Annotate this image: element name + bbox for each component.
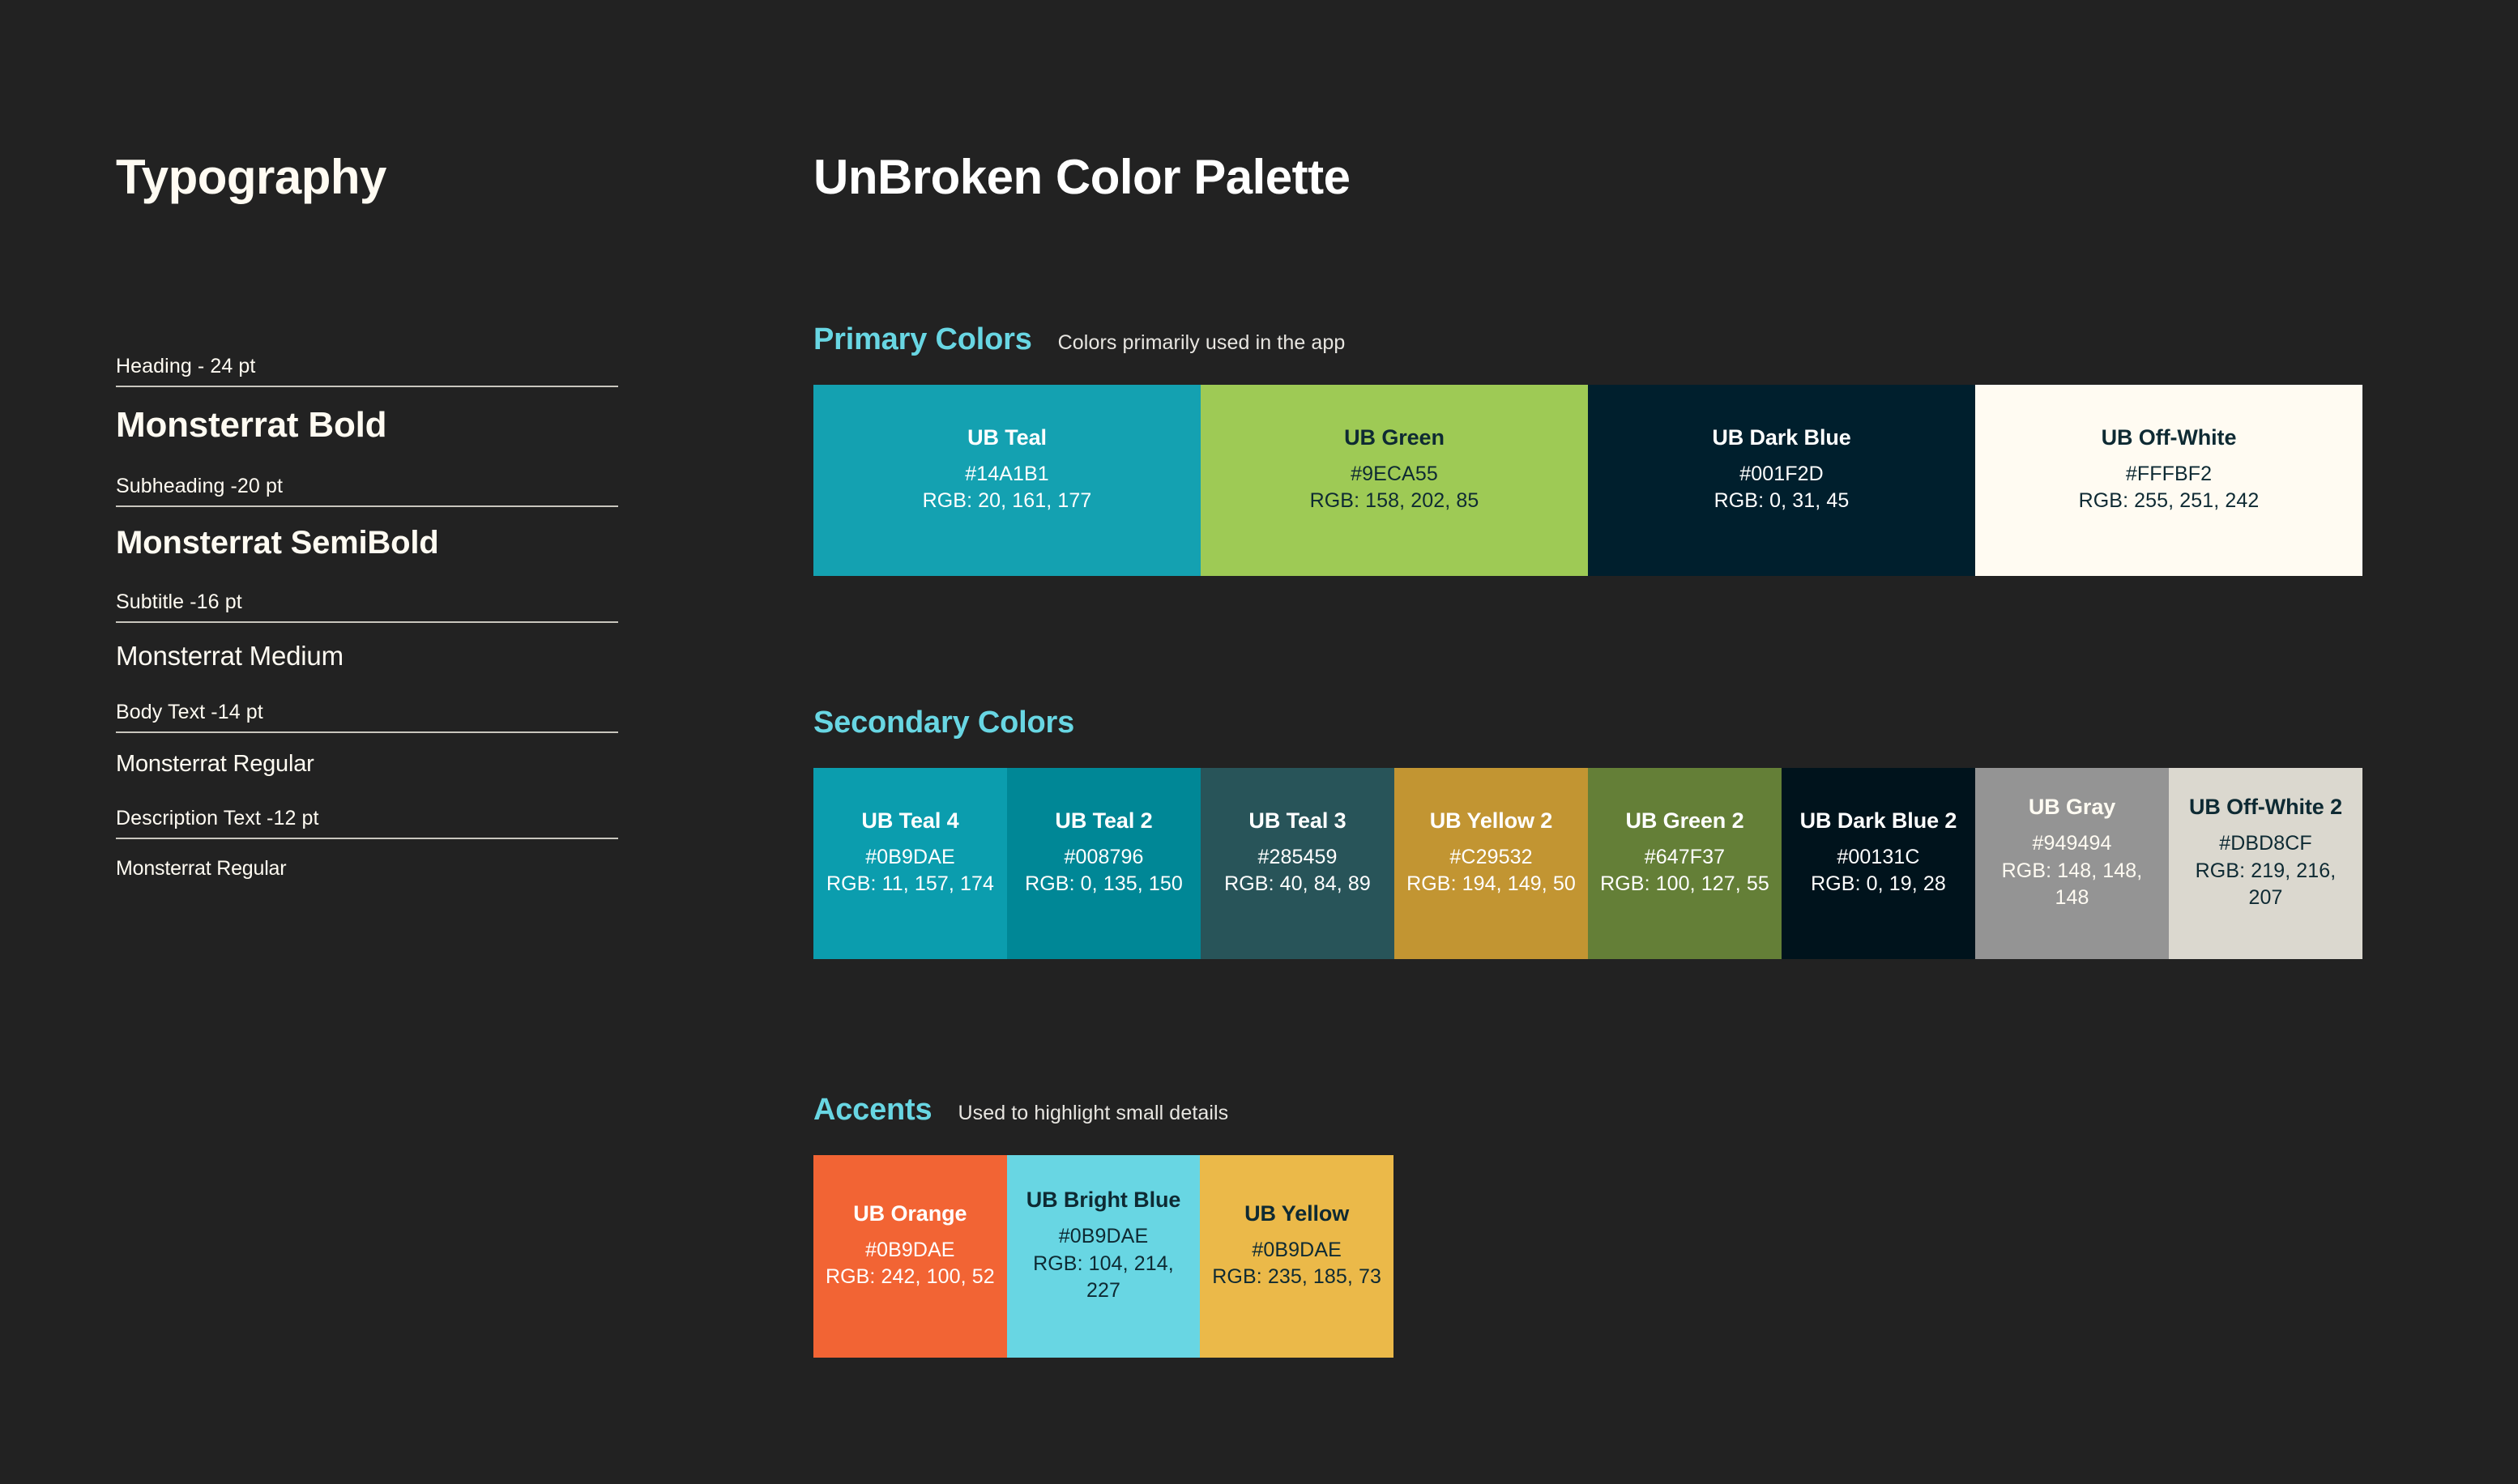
typography-row-label: Description Text -12 pt: [116, 807, 618, 839]
color-swatch[interactable]: UB Gray#949494RGB: 148, 148, 148: [1975, 768, 2169, 959]
color-swatch[interactable]: UB Orange#0B9DAERGB: 242, 100, 52: [813, 1155, 1007, 1358]
swatch-hex-value: #0B9DAE: [865, 1237, 955, 1264]
color-swatch[interactable]: UB Yellow 2#C29532RGB: 194, 149, 50: [1394, 768, 1588, 959]
typography-row-sample: Monsterrat Medium: [116, 623, 618, 683]
swatch-rgb-value: RGB: 0, 31, 45: [1714, 488, 1850, 515]
swatch-rgb-value: RGB: 158, 202, 85: [1310, 488, 1479, 515]
section-title: Primary Colors: [813, 322, 1032, 357]
typography-row-label: Body Text -14 pt: [116, 701, 618, 733]
swatch-name: UB Bright Blue: [1026, 1187, 1181, 1213]
typography-heading: Typography: [116, 151, 618, 204]
swatch-hex-value: #0B9DAE: [1252, 1237, 1342, 1264]
style-guide-page: Typography Heading - 24 ptMonsterrat Bol…: [0, 0, 2518, 1484]
typography-row-sample: Monsterrat SemiBold: [116, 507, 618, 573]
color-swatch[interactable]: UB Teal#14A1B1RGB: 20, 161, 177: [813, 385, 1201, 576]
swatch-hex-value: #14A1B1: [965, 461, 1049, 488]
swatch-name: UB Gray: [2029, 794, 2115, 821]
section-subtitle: Colors primarily used in the app: [1058, 331, 1346, 355]
palette-sections: Primary ColorsColors primarily used in t…: [813, 322, 2369, 1358]
swatch-hex-value: #647F37: [1645, 844, 1725, 872]
swatch-name: UB Dark Blue: [1712, 424, 1850, 451]
swatch-hex-value: #9ECA55: [1351, 461, 1438, 488]
swatch-row-accents: UB Orange#0B9DAERGB: 242, 100, 52UB Brig…: [813, 1155, 2369, 1358]
swatch-rgb-value: RGB: 100, 127, 55: [1600, 871, 1769, 898]
swatch-rgb-value: RGB: 235, 185, 73: [1212, 1264, 1381, 1291]
swatch-hex-value: #001F2D: [1739, 461, 1824, 488]
swatch-name: UB Green 2: [1625, 808, 1743, 834]
swatch-hex-value: #949494: [2032, 830, 2111, 858]
color-swatch[interactable]: UB Green#9ECA55RGB: 158, 202, 85: [1201, 385, 1588, 576]
color-swatch[interactable]: UB Bright Blue#0B9DAERGB: 104, 214, 227: [1007, 1155, 1201, 1358]
color-swatch[interactable]: UB Yellow#0B9DAERGB: 235, 185, 73: [1200, 1155, 1393, 1358]
typography-row-sample: Monsterrat Bold: [116, 387, 618, 457]
section-subtitle: Used to highlight small details: [958, 1102, 1228, 1125]
color-swatch[interactable]: UB Dark Blue#001F2DRGB: 0, 31, 45: [1588, 385, 1975, 576]
swatch-rgb-value: RGB: 242, 100, 52: [826, 1264, 995, 1291]
swatch-hex-value: #C29532: [1449, 844, 1532, 872]
color-swatch[interactable]: UB Off-White#FFFBF2RGB: 255, 251, 242: [1975, 385, 2362, 576]
color-swatch[interactable]: UB Off-White 2#DBD8CFRGB: 219, 216, 207: [2169, 768, 2362, 959]
palette-section-primary: Primary ColorsColors primarily used in t…: [813, 322, 2369, 576]
swatch-name: UB Teal: [967, 424, 1047, 451]
color-swatch[interactable]: UB Dark Blue 2#00131CRGB: 0, 19, 28: [1782, 768, 1975, 959]
swatch-name: UB Dark Blue 2: [1800, 808, 1957, 834]
swatch-name: UB Teal 3: [1248, 808, 1346, 834]
swatch-name: UB Yellow 2: [1430, 808, 1552, 834]
typography-specimen-list: Heading - 24 ptMonsterrat BoldSubheading…: [116, 355, 618, 892]
swatch-rgb-value: RGB: 0, 19, 28: [1811, 871, 1946, 898]
swatch-hex-value: #FFFBF2: [2126, 461, 2212, 488]
typography-row: Subtitle -16 ptMonsterrat Medium: [116, 591, 618, 683]
typography-row-label: Subtitle -16 pt: [116, 591, 618, 623]
swatch-hex-value: #0B9DAE: [865, 844, 955, 872]
swatch-name: UB Off-White 2: [2189, 794, 2342, 821]
palette-section-secondary: Secondary ColorsUB Teal 4#0B9DAERGB: 11,…: [813, 706, 2369, 959]
swatch-hex-value: #DBD8CF: [2219, 830, 2312, 858]
swatch-name: UB Yellow: [1244, 1200, 1349, 1227]
swatch-name: UB Green: [1344, 424, 1445, 451]
color-swatch[interactable]: UB Teal 4#0B9DAERGB: 11, 157, 174: [813, 768, 1007, 959]
palette-section-accents: AccentsUsed to highlight small detailsUB…: [813, 1093, 2369, 1358]
palette-title: UnBroken Color Palette: [813, 151, 2369, 204]
swatch-row-secondary: UB Teal 4#0B9DAERGB: 11, 157, 174UB Teal…: [813, 768, 2369, 959]
swatch-rgb-value: RGB: 194, 149, 50: [1406, 871, 1576, 898]
color-swatch[interactable]: UB Teal 3#285459RGB: 40, 84, 89: [1201, 768, 1394, 959]
typography-row: Description Text -12 ptMonsterrat Regula…: [116, 807, 618, 892]
swatch-name: UB Off-White: [2102, 424, 2237, 451]
color-swatch[interactable]: UB Teal 2#008796RGB: 0, 135, 150: [1007, 768, 1201, 959]
section-title: Secondary Colors: [813, 706, 1074, 740]
section-title: Accents: [813, 1093, 932, 1128]
section-header: AccentsUsed to highlight small details: [813, 1093, 2369, 1128]
swatch-name: UB Teal 4: [861, 808, 958, 834]
swatch-hex-value: #0B9DAE: [1059, 1223, 1149, 1251]
typography-row-label: Heading - 24 pt: [116, 355, 618, 387]
typography-row-sample: Monsterrat Regular: [116, 839, 618, 892]
typography-row: Body Text -14 ptMonsterrat Regular: [116, 701, 618, 789]
swatch-hex-value: #00131C: [1837, 844, 1919, 872]
swatch-rgb-value: RGB: 219, 216, 207: [2177, 858, 2354, 913]
typography-row-sample: Monsterrat Regular: [116, 733, 618, 789]
color-swatch[interactable]: UB Green 2#647F37RGB: 100, 127, 55: [1588, 768, 1782, 959]
swatch-hex-value: #008796: [1064, 844, 1143, 872]
typography-row: Subheading -20 ptMonsterrat SemiBold: [116, 475, 618, 573]
section-header: Secondary Colors: [813, 706, 2369, 740]
swatch-rgb-value: RGB: 11, 157, 174: [826, 871, 994, 898]
typography-row: Heading - 24 ptMonsterrat Bold: [116, 355, 618, 457]
color-palette-section: UnBroken Color Palette Primary ColorsCol…: [813, 151, 2369, 1358]
swatch-rgb-value: RGB: 104, 214, 227: [1015, 1251, 1193, 1306]
swatch-name: UB Orange: [853, 1200, 967, 1227]
swatch-hex-value: #285459: [1257, 844, 1337, 872]
swatch-rgb-value: RGB: 20, 161, 177: [923, 488, 1092, 515]
swatch-name: UB Teal 2: [1055, 808, 1152, 834]
swatch-rgb-value: RGB: 40, 84, 89: [1224, 871, 1371, 898]
swatch-row-primary: UB Teal#14A1B1RGB: 20, 161, 177UB Green#…: [813, 385, 2369, 576]
swatch-rgb-value: RGB: 148, 148, 148: [1983, 858, 2161, 913]
swatch-rgb-value: RGB: 0, 135, 150: [1025, 871, 1183, 898]
typography-section: Typography Heading - 24 ptMonsterrat Bol…: [116, 151, 618, 910]
swatch-rgb-value: RGB: 255, 251, 242: [2079, 488, 2260, 515]
section-header: Primary ColorsColors primarily used in t…: [813, 322, 2369, 357]
typography-row-label: Subheading -20 pt: [116, 475, 618, 507]
